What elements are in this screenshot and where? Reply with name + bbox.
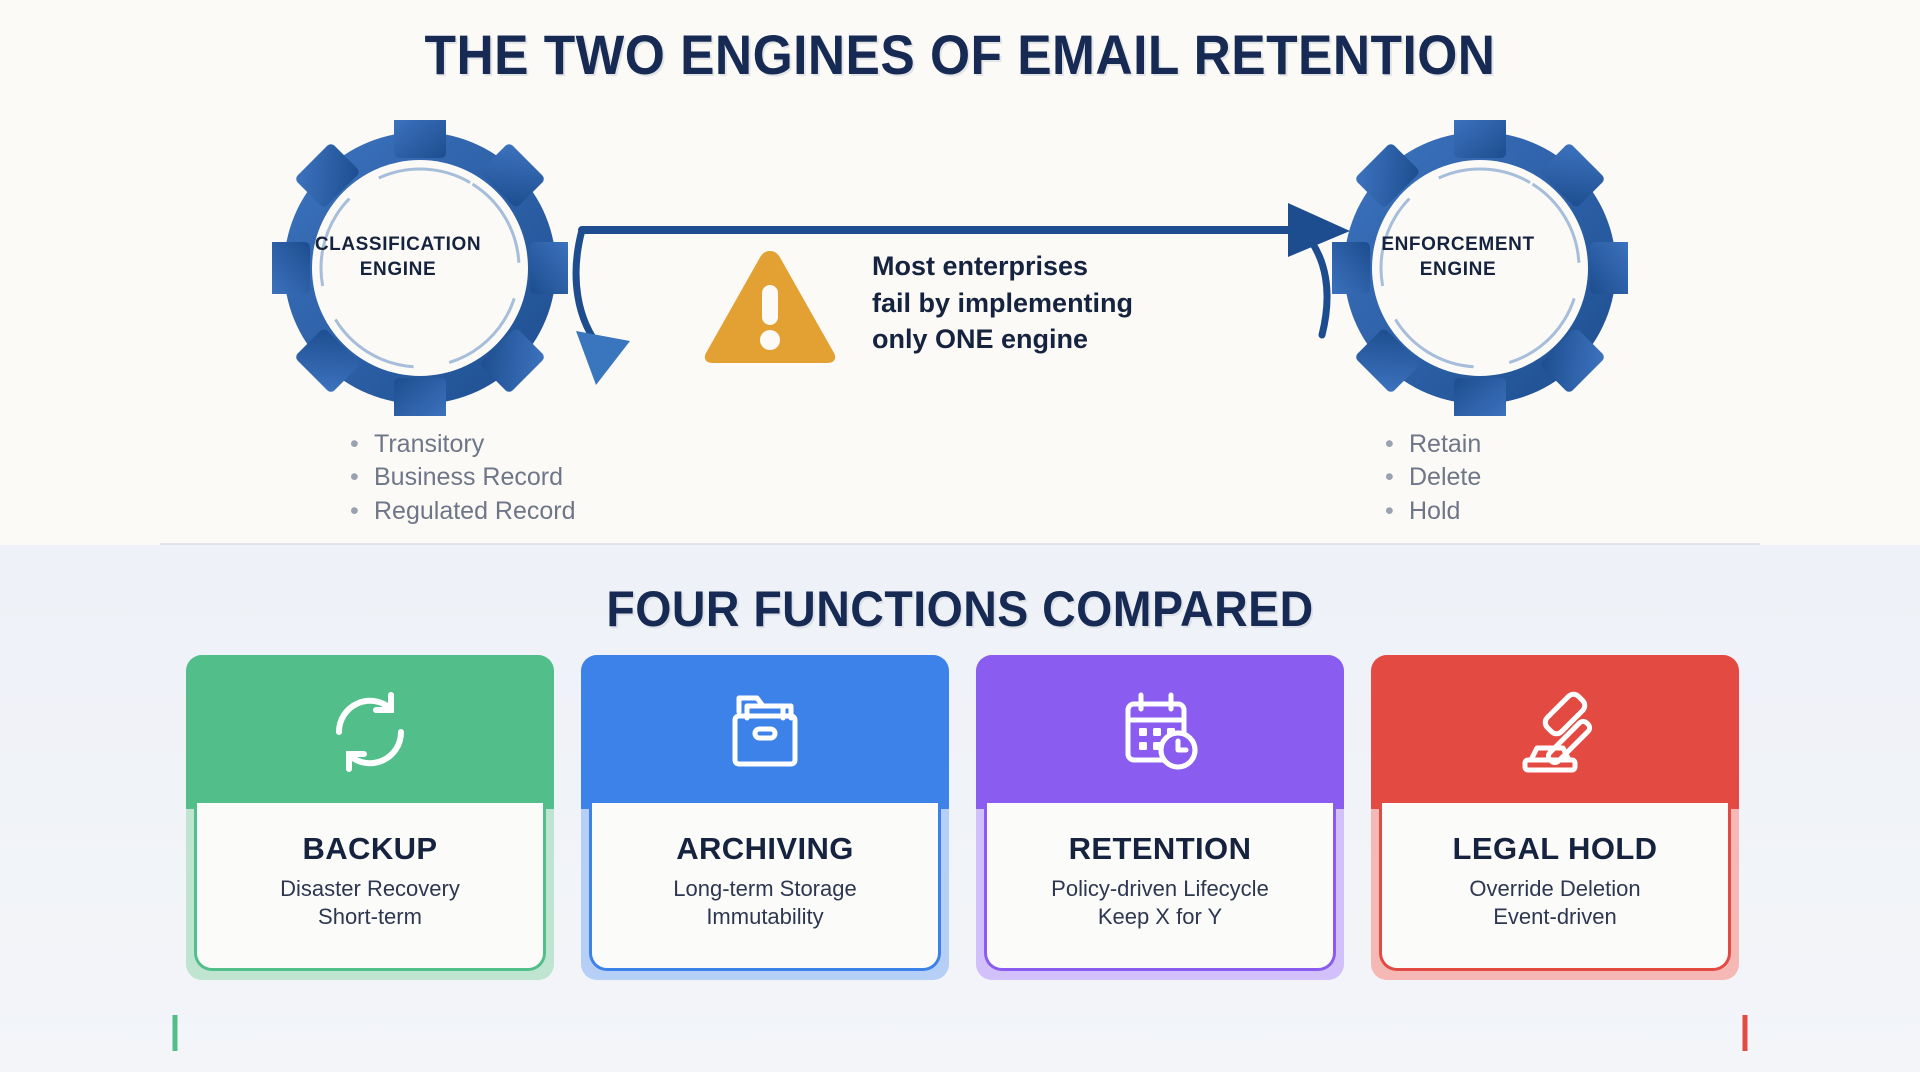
gear-icon	[272, 120, 568, 416]
card-title: LEGAL HOLD	[1453, 831, 1658, 867]
list-item: •Business Record	[350, 461, 690, 494]
classification-bullet-list: •Transitory •Business Record •Regulated …	[350, 428, 690, 528]
list-item-label: Regulated Record	[374, 497, 576, 525]
list-item-label: Delete	[1409, 463, 1481, 491]
card-sub-line1: Disaster Recovery	[280, 875, 460, 903]
list-item: •Regulated Record	[350, 495, 690, 528]
gavel-icon	[1507, 684, 1603, 780]
card-sub-line1: Long-term Storage	[673, 875, 856, 903]
card-header	[976, 655, 1344, 809]
comparison-title: FOUR FUNCTIONS COMPARED	[67, 580, 1853, 638]
bullet-marker: •	[1385, 495, 1409, 528]
card-sub-line2: Event-driven	[1469, 903, 1640, 931]
list-item: •Transitory	[350, 428, 690, 461]
list-item-label: Business Record	[374, 463, 563, 491]
enforcement-bullet-list: •Retain •Delete •Hold	[1385, 428, 1725, 528]
card-sub-line1: Override Deletion	[1469, 875, 1640, 903]
list-item: •Retain	[1385, 428, 1725, 461]
function-cards: BACKUP Disaster Recovery Short-term	[186, 655, 1746, 985]
card-body: LEGAL HOLD Override Deletion Event-drive…	[1379, 803, 1731, 971]
list-item-label: Retain	[1409, 430, 1481, 458]
card-title: BACKUP	[302, 831, 437, 867]
calendar-clock-icon	[1112, 684, 1208, 780]
card-title: RETENTION	[1069, 831, 1252, 867]
list-item-label: Hold	[1409, 497, 1460, 525]
warning-line-2: fail by implementing	[872, 285, 1242, 322]
infographic-canvas: THE TWO ENGINES OF EMAIL RETENTION	[0, 0, 1920, 1072]
archive-box-icon	[717, 684, 813, 780]
card-title: ARCHIVING	[676, 831, 854, 867]
sync-refresh-icon	[322, 684, 418, 780]
enforcement-engine[interactable]: ENFORCEMENT ENGINE	[1310, 110, 1650, 410]
gear-icon	[1332, 120, 1628, 416]
warning-line-1: Most enterprises	[872, 248, 1242, 285]
timeline-ruler-icon	[170, 1005, 1750, 1053]
card-subtitle: Override Deletion Event-driven	[1469, 875, 1640, 931]
list-item: •Delete	[1385, 461, 1725, 494]
card-legal-hold[interactable]: LEGAL HOLD Override Deletion Event-drive…	[1371, 655, 1739, 980]
card-sub-line1: Policy-driven Lifecycle	[1051, 875, 1269, 903]
list-item-label: Transitory	[374, 430, 484, 458]
card-subtitle: Policy-driven Lifecycle Keep X for Y	[1051, 875, 1269, 931]
card-archiving[interactable]: ARCHIVING Long-term Storage Immutability	[581, 655, 949, 980]
card-sub-line2: Keep X for Y	[1051, 903, 1269, 931]
classification-engine[interactable]: CLASSIFICATION ENGINE	[250, 110, 590, 410]
page-title: THE TWO ENGINES OF EMAIL RETENTION	[77, 22, 1843, 87]
card-header	[1371, 655, 1739, 809]
bullet-marker: •	[350, 495, 374, 528]
bullet-marker: •	[1385, 428, 1409, 461]
card-sub-line2: Immutability	[673, 903, 856, 931]
card-subtitle: Long-term Storage Immutability	[673, 875, 856, 931]
warning-message: Most enterprises fail by implementing on…	[872, 248, 1242, 358]
list-item: •Hold	[1385, 495, 1725, 528]
card-header	[186, 655, 554, 809]
card-body: RETENTION Policy-driven Lifecycle Keep X…	[984, 803, 1336, 971]
warning-triangle-icon	[700, 245, 840, 365]
card-body: ARCHIVING Long-term Storage Immutability	[589, 803, 941, 971]
bullet-marker: •	[1385, 461, 1409, 494]
bullet-marker: •	[350, 461, 374, 494]
card-body: BACKUP Disaster Recovery Short-term	[194, 803, 546, 971]
card-retention[interactable]: RETENTION Policy-driven Lifecycle Keep X…	[976, 655, 1344, 980]
card-subtitle: Disaster Recovery Short-term	[280, 875, 460, 931]
card-sub-line2: Short-term	[280, 903, 460, 931]
warning-line-3: only ONE engine	[872, 321, 1242, 358]
bullet-marker: •	[350, 428, 374, 461]
card-backup[interactable]: BACKUP Disaster Recovery Short-term	[186, 655, 554, 980]
card-header	[581, 655, 949, 809]
